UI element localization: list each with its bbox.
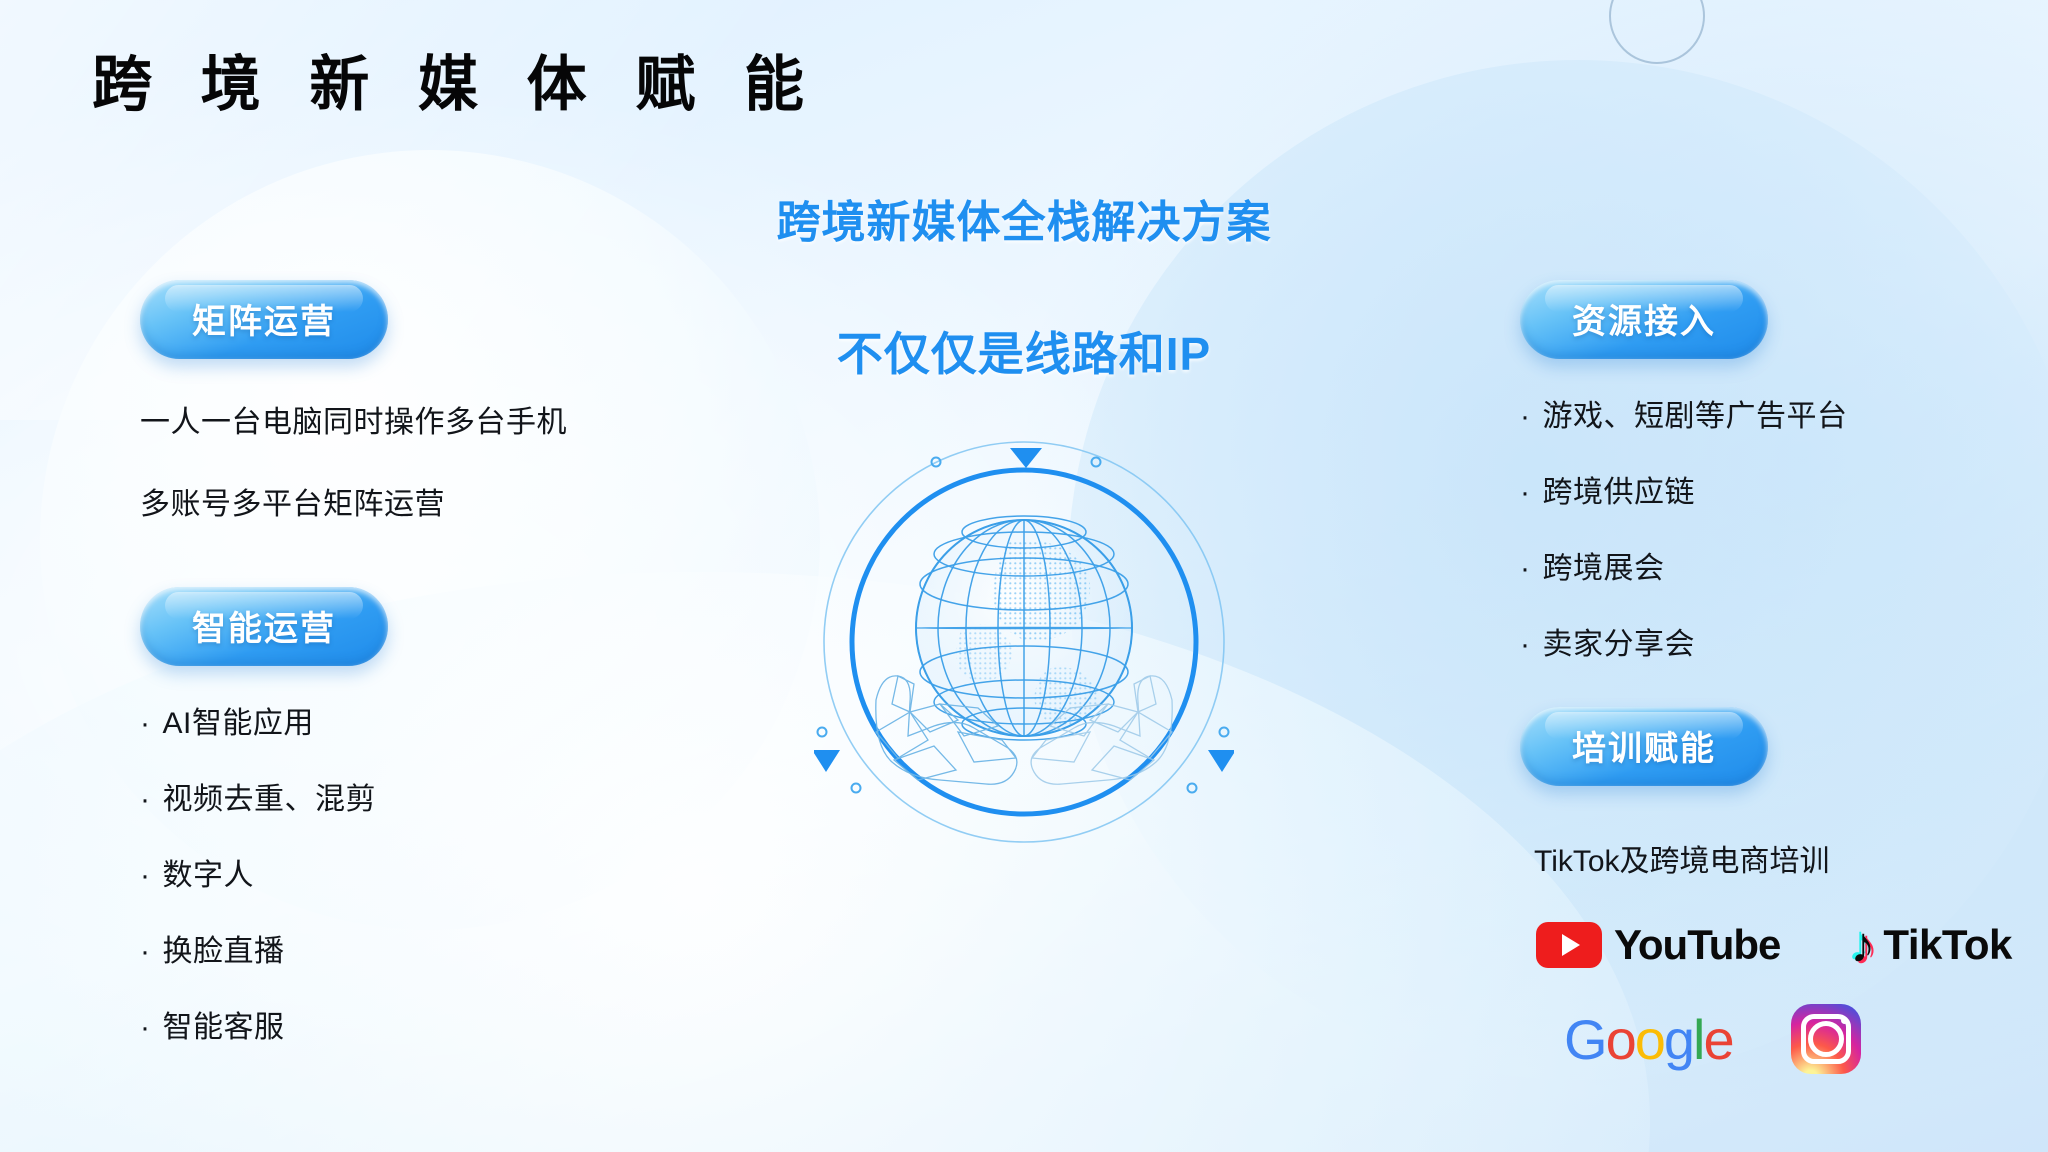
- youtube-logo-label: YouTube: [1614, 921, 1780, 969]
- logo-row-secondary: Google: [1564, 1004, 2040, 1074]
- training-caption: TikTok及跨境电商培训: [1534, 836, 2040, 880]
- pill-smart-operations[interactable]: 智能运营: [140, 587, 388, 666]
- left-s2-item-0-label: AI智能应用: [163, 707, 314, 740]
- right-column: 资源接入 ·游戏、短剧等广告平台 ·跨境供应链 ·跨境展会 ·卖家分享会 培训赋…: [1520, 280, 2040, 1074]
- left-s2-item-0: ·AI智能应用: [140, 698, 700, 742]
- right-s1-item-2-label: 跨境展会: [1543, 552, 1665, 585]
- instagram-lens-icon: [1808, 1021, 1844, 1057]
- left-s2-item-3-label: 换脸直播: [163, 935, 285, 968]
- tiktok-logo[interactable]: ♪ TikTok: [1850, 920, 2011, 970]
- right-s1-item-0-label: 游戏、短剧等广告平台: [1543, 400, 1848, 433]
- bullet-icon: ·: [1520, 476, 1531, 509]
- google-letter-l: l: [1693, 1008, 1703, 1071]
- decorative-ring-icon: [1609, 0, 1705, 64]
- left-s2-item-1: ·视频去重、混剪: [140, 774, 700, 818]
- left-s2-item-4-label: 智能客服: [163, 1011, 285, 1044]
- right-s1-item-2: ·跨境展会: [1520, 543, 2040, 587]
- bullet-icon: ·: [1520, 400, 1531, 433]
- logo-row-primary: YouTube ♪ TikTok: [1536, 920, 2040, 970]
- spacer: [1520, 663, 2040, 707]
- pill-matrix-operations[interactable]: 矩阵运营: [140, 280, 388, 359]
- left-column: 矩阵运营 一人一台电脑同时操作多台手机 多账号多平台矩阵运营 智能运营 ·AI智…: [140, 280, 700, 1046]
- bullet-icon: ·: [140, 707, 151, 740]
- right-s1-item-3-label: 卖家分享会: [1543, 628, 1696, 661]
- bullet-icon: ·: [140, 859, 151, 892]
- google-logo[interactable]: Google: [1564, 1007, 1733, 1072]
- left-s2-item-3: ·换脸直播: [140, 926, 700, 970]
- right-s1-item-0: ·游戏、短剧等广告平台: [1520, 391, 2040, 435]
- bullet-icon: ·: [1520, 552, 1531, 585]
- spacer: [140, 523, 700, 587]
- tiktok-note-icon: ♪: [1850, 920, 1875, 970]
- left-s2-item-1-label: 视频去重、混剪: [163, 783, 377, 816]
- pill-resource-access[interactable]: 资源接入: [1520, 280, 1768, 359]
- bullet-icon: ·: [140, 783, 151, 816]
- google-letter-g1: G: [1564, 1008, 1606, 1071]
- bullet-icon: ·: [1520, 628, 1531, 661]
- right-s1-item-1-label: 跨境供应链: [1543, 476, 1696, 509]
- globe-svg: [814, 432, 1234, 852]
- google-letter-o2: o: [1635, 1008, 1664, 1071]
- bullet-icon: ·: [140, 1011, 151, 1044]
- center-heading-primary: 跨境新媒体全栈解决方案: [0, 186, 2048, 250]
- left-s2-item-2: ·数字人: [140, 850, 700, 894]
- left-s1-line-0: 一人一台电脑同时操作多台手机: [140, 397, 700, 441]
- globe-in-hands-illustration: [814, 432, 1234, 852]
- left-s1-line-1: 多账号多平台矩阵运营: [140, 479, 700, 523]
- left-s2-item-4: ·智能客服: [140, 1002, 700, 1046]
- left-s2-item-2-label: 数字人: [163, 859, 255, 892]
- instagram-dot-icon: [1841, 1017, 1848, 1024]
- tiktok-logo-label: TikTok: [1883, 921, 2011, 969]
- youtube-logo[interactable]: YouTube: [1536, 921, 1780, 969]
- page-title: 跨 境 新 媒 体 赋 能: [92, 36, 820, 123]
- bullet-icon: ·: [140, 935, 151, 968]
- instagram-logo[interactable]: [1791, 1004, 1861, 1074]
- slide-root: 跨 境 新 媒 体 赋 能 跨境新媒体全栈解决方案 不仅仅是线路和IP: [0, 0, 2048, 1152]
- google-letter-g2: g: [1664, 1008, 1693, 1071]
- right-s1-item-3: ·卖家分享会: [1520, 619, 2040, 663]
- right-s1-item-1: ·跨境供应链: [1520, 467, 2040, 511]
- google-letter-e: e: [1703, 1008, 1732, 1071]
- google-letter-o1: o: [1606, 1008, 1635, 1071]
- pill-training-empowerment[interactable]: 培训赋能: [1520, 707, 1768, 786]
- youtube-play-icon: [1536, 922, 1602, 968]
